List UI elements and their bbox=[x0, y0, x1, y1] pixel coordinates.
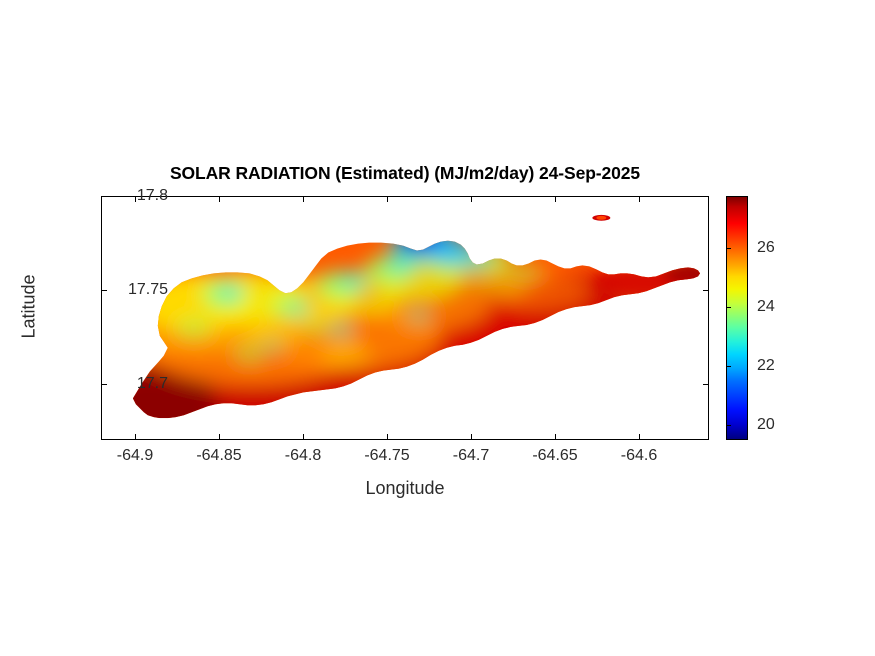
x-tick-label: -64.85 bbox=[196, 447, 241, 465]
x-tick bbox=[135, 434, 136, 440]
x-tick bbox=[387, 434, 388, 440]
y-tick-label: 17.75 bbox=[128, 281, 168, 299]
x-tick-label: -64.65 bbox=[532, 447, 577, 465]
matlab-figure-canvas: SOLAR RADIATION (Estimated) (MJ/m2/day) … bbox=[0, 0, 875, 656]
x-tick-label: -64.6 bbox=[621, 447, 657, 465]
x-tick-label: -64.7 bbox=[453, 447, 489, 465]
x-tick-label: -64.9 bbox=[117, 447, 153, 465]
y-tick bbox=[703, 290, 709, 291]
x-tick bbox=[303, 434, 304, 440]
map-axes bbox=[101, 196, 709, 440]
y-axis-label: Latitude bbox=[19, 252, 40, 362]
colorbar-tick bbox=[726, 366, 731, 367]
x-tick bbox=[639, 434, 640, 440]
colorbar-tick bbox=[726, 425, 731, 426]
x-tick bbox=[387, 196, 388, 202]
y-tick bbox=[101, 384, 107, 385]
page-title: SOLAR RADIATION (Estimated) (MJ/m2/day) … bbox=[101, 163, 709, 184]
colorbar bbox=[726, 196, 748, 440]
x-tick bbox=[471, 196, 472, 202]
x-tick bbox=[639, 196, 640, 202]
y-tick-label: 17.7 bbox=[137, 375, 168, 393]
x-tick bbox=[303, 196, 304, 202]
x-tick bbox=[219, 434, 220, 440]
solar-radiation-heatmap bbox=[102, 197, 708, 439]
colorbar-tick bbox=[726, 307, 731, 308]
x-tick bbox=[471, 434, 472, 440]
y-tick bbox=[703, 196, 709, 197]
y-tick-label: 17.8 bbox=[137, 187, 168, 205]
x-axis-label: Longitude bbox=[101, 478, 709, 499]
colorbar-tick-label: 20 bbox=[757, 416, 775, 434]
y-tick bbox=[101, 196, 107, 197]
colorbar-tick bbox=[726, 248, 731, 249]
x-tick-label: -64.8 bbox=[285, 447, 321, 465]
colorbar-tick-label: 22 bbox=[757, 357, 775, 375]
colorbar-tick-label: 26 bbox=[757, 239, 775, 257]
x-tick-label: -64.75 bbox=[364, 447, 409, 465]
y-tick bbox=[703, 384, 709, 385]
buck-island-raster bbox=[588, 211, 618, 227]
island-raster bbox=[102, 197, 708, 439]
x-tick bbox=[555, 196, 556, 202]
x-tick bbox=[219, 196, 220, 202]
x-tick bbox=[555, 434, 556, 440]
colorbar-tick-label: 24 bbox=[757, 298, 775, 316]
x-tick bbox=[135, 196, 136, 202]
y-tick bbox=[101, 290, 107, 291]
